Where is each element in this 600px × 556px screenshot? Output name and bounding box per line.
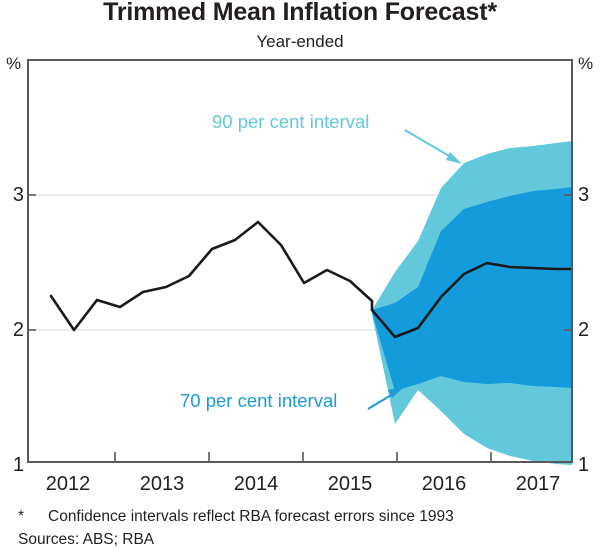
footnote-sources: Sources: ABS; RBA bbox=[18, 531, 154, 549]
history-line bbox=[51, 222, 372, 330]
inflation-forecast-chart: Trimmed Mean Inflation Forecast* Year-en… bbox=[0, 0, 600, 556]
chart-plot-svg bbox=[0, 0, 600, 556]
band-90-annotation: 90 per cent interval bbox=[212, 111, 369, 133]
footnote-marker: * bbox=[18, 508, 24, 526]
footnote-note: Confidence intervals reflect RBA forecas… bbox=[48, 508, 454, 526]
band-90-arrow-icon bbox=[405, 130, 462, 164]
band-70-annotation: 70 per cent interval bbox=[180, 390, 337, 412]
